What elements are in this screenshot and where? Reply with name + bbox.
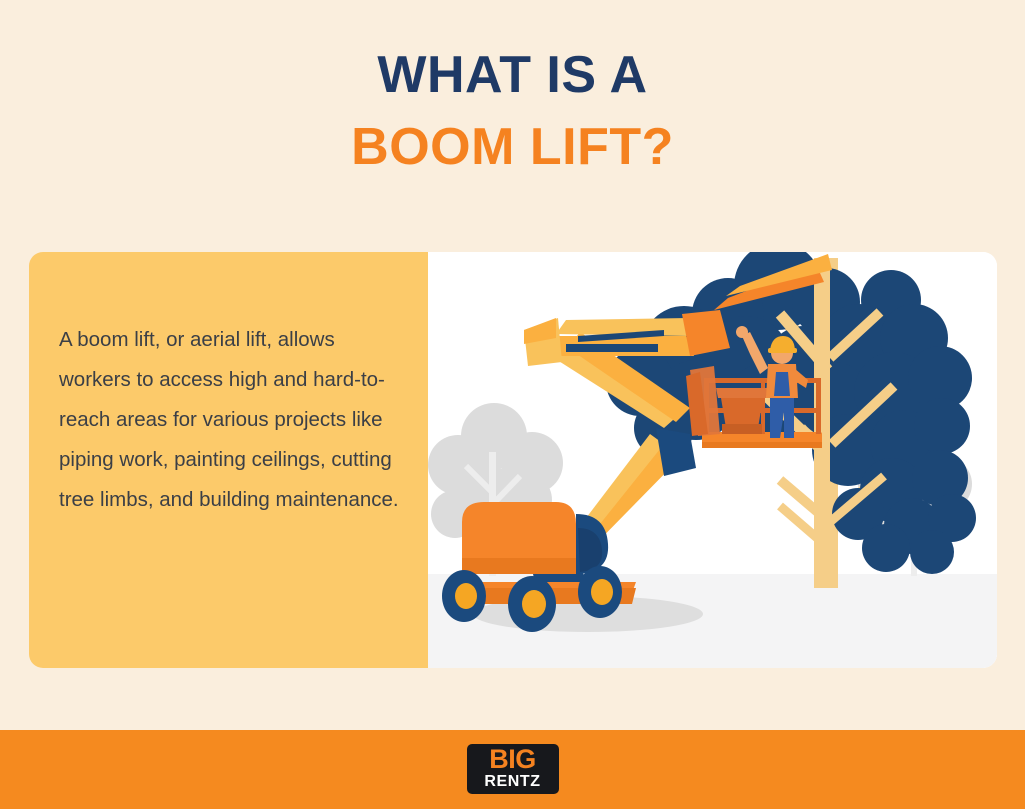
brand-logo-box: BIG RENTZ (467, 744, 559, 794)
footer-bar: BIG RENTZ (0, 730, 1025, 809)
wheel-front-right-icon (508, 576, 556, 632)
description-panel: A boom lift, or aerial lift, allows work… (29, 252, 428, 668)
page-title-line-1: WHAT IS A (0, 46, 1025, 104)
brand-logo-primary-text: BIG (467, 745, 559, 774)
wheel-rear-icon (578, 566, 622, 618)
brand-logo[interactable]: BIG RENTZ (467, 744, 559, 794)
page-title-line-2: BOOM LIFT? (0, 118, 1025, 176)
description-text: A boom lift, or aerial lift, allows work… (59, 320, 404, 520)
boom-lift-illustration (428, 252, 997, 668)
illustration-panel (428, 252, 997, 668)
infographic-page: WHAT IS A BOOM LIFT? A boom lift, or aer… (0, 0, 1025, 809)
wheel-front-left-icon (442, 570, 486, 622)
brand-logo-secondary-text: RENTZ (467, 773, 559, 791)
page-title: WHAT IS A BOOM LIFT? (0, 46, 1025, 176)
